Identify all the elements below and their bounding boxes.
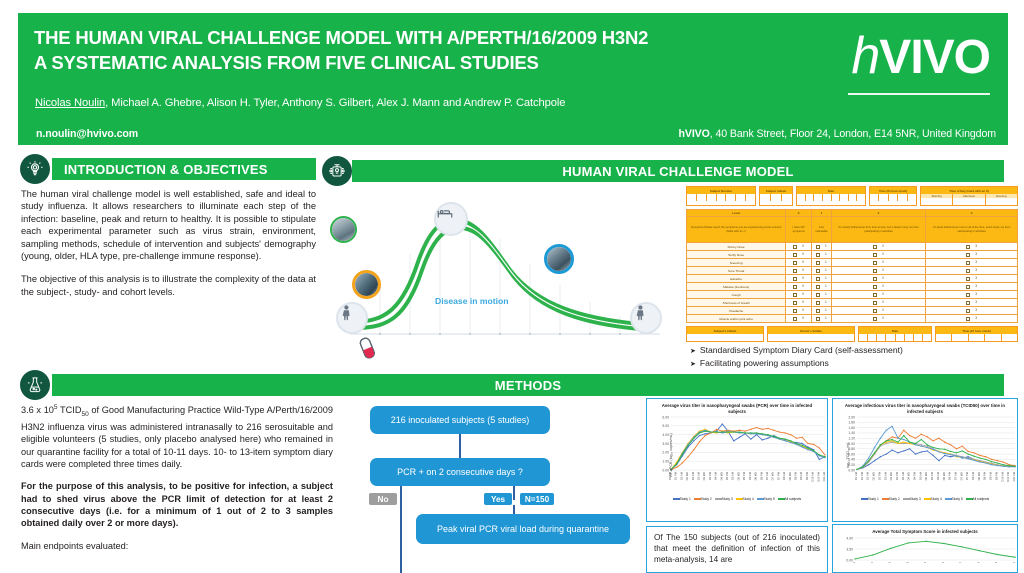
chart1-svg: 0.001.002.003.004.005.006.00D1 AMD1 PMD2… <box>647 414 829 496</box>
level-2-header: 2 <box>831 210 926 217</box>
svg-text:D7 AM: D7 AM <box>953 471 957 480</box>
svg-text:D6 PM: D6 PM <box>759 471 763 480</box>
chart2-plot: log₁₀ TCID₅₀/mL 0.000.200.400.600.801.00… <box>833 414 1017 496</box>
symptom-score-checkbox[interactable]: 2 <box>831 275 926 283</box>
chart2-ylabel: log₁₀ TCID₅₀/mL <box>846 442 850 468</box>
svg-text:D3: D3 <box>888 561 892 563</box>
blood-sample-tube-row <box>358 336 658 362</box>
poster-header-banner: THE HUMAN VIRAL CHALLENGE MODEL WITH A/P… <box>18 13 1008 145</box>
symptom-score-checkbox[interactable]: 1 <box>811 291 831 299</box>
author-list: Nicolas Noulin, Michael A. Ghebre, Aliso… <box>35 97 835 109</box>
svg-text:6.00: 6.00 <box>662 415 669 419</box>
svg-text:D4 MD: D4 MD <box>719 472 723 480</box>
svg-text:D7 MD: D7 MD <box>959 472 963 480</box>
symptom-score-checkbox[interactable]: 0 <box>786 315 812 323</box>
svg-text:D3 AM: D3 AM <box>883 471 887 480</box>
section-header-hvcm: HUMAN VIRAL CHALLENGE MODEL <box>352 160 1004 182</box>
legend-item: Study 5 <box>757 497 775 501</box>
svg-text:D3 PM: D3 PM <box>895 471 899 480</box>
hospital-ward-photo <box>330 216 357 243</box>
legend-label: Study 5 <box>952 497 963 501</box>
chart3-title: Average Total Symptom Score in infected … <box>833 525 1017 535</box>
svg-text:D8 AM: D8 AM <box>782 471 786 480</box>
symptom-name: Runny Nose <box>687 243 786 251</box>
hvivo-logo: hVIVO <box>840 27 990 103</box>
field-label: Subject Number <box>687 187 755 194</box>
symptom-name: Cough <box>687 291 786 299</box>
chart3-svg: 0.003.504.00D1D2D3D4D5D6D7D8D9D10 <box>833 535 1019 563</box>
symptom-score-checkbox[interactable]: 2 <box>831 251 926 259</box>
svg-text:D2: D2 <box>870 561 874 563</box>
field-time-bottom[interactable]: Time (24 hour clock) <box>935 326 1018 342</box>
symptom-score-checkbox[interactable]: 1 <box>811 315 831 323</box>
field-label: Date <box>797 187 865 194</box>
svg-text:D8 PM: D8 PM <box>793 471 797 480</box>
symptom-score-checkbox[interactable]: 0 <box>786 259 812 267</box>
field-subject-initials-bottom[interactable]: Subject's Initials <box>686 326 764 342</box>
legend-label: Study 1 <box>868 497 879 501</box>
tcid-subscript: 50 <box>81 411 88 418</box>
field-date-bottom[interactable]: Date <box>858 326 932 342</box>
logo-h: h <box>851 27 879 85</box>
svg-text:D4 PM: D4 PM <box>725 471 729 480</box>
table-row: Runny Nose0123 <box>687 243 1018 251</box>
flow-box-inoculated-subjects[interactable]: 216 inoculated subjects (5 studies) <box>370 406 550 434</box>
symptom-score-checkbox[interactable]: 0 <box>786 267 812 275</box>
legend-label: Study 3 <box>722 497 733 501</box>
methods-paragraph-1: 3.6 x 105 TCID50 of Good Manufacturing P… <box>21 402 333 470</box>
bullet-item: Standardised Symptom Diary Card (self-as… <box>690 345 1020 358</box>
methods-paragraph-3: Main endpoints evaluated: <box>21 540 333 552</box>
svg-text:D10 PM: D10 PM <box>1006 471 1010 481</box>
poster-title: THE HUMAN VIRAL CHALLENGE MODEL WITH A/P… <box>34 25 844 75</box>
svg-text:0.00: 0.00 <box>848 468 855 472</box>
svg-text:D9 AM: D9 AM <box>799 471 803 480</box>
legend-label: Study 4 <box>743 497 754 501</box>
disease-curve-figure: Disease in motion <box>330 184 678 364</box>
symptom-name: Headache <box>687 307 786 315</box>
svg-text:1.20: 1.20 <box>848 437 855 441</box>
svg-text:D2 AM: D2 AM <box>866 471 870 480</box>
table-row: Stuffy Nose0123 <box>687 251 1018 259</box>
symptom-name: Sore Throat <box>687 267 786 275</box>
disease-in-motion-label: Disease in motion <box>435 296 509 306</box>
introduction-heading: INTRODUCTION & OBJECTIVES <box>64 162 268 177</box>
svg-text:D8: D8 <box>976 561 980 563</box>
svg-text:D10 PM: D10 PM <box>816 471 820 481</box>
svg-text:D7: D7 <box>959 561 963 563</box>
symptom-score-checkbox[interactable]: 2 <box>831 259 926 267</box>
symptom-score-checkbox[interactable]: 2 <box>831 243 926 251</box>
chart-card-pcr-titer: Average virus titer in nasopharyngeal sw… <box>646 398 828 522</box>
symptom-column-instruction: Symptoms Please report the symptoms you … <box>687 217 786 243</box>
symptom-score-checkbox[interactable]: 3 <box>926 243 1018 251</box>
organisation-name: hVIVO <box>679 128 710 140</box>
svg-text:D6 MD: D6 MD <box>754 472 758 480</box>
symptom-score-checkbox[interactable]: 3 <box>926 291 1018 299</box>
svg-text:D5: D5 <box>923 561 927 563</box>
field-label: Time (24 hour clock) <box>936 327 1017 334</box>
legend-label: Study 2 <box>701 497 712 501</box>
svg-text:D8 MD: D8 MD <box>788 472 792 480</box>
table-row: Sore Throat0123 <box>687 267 1018 275</box>
poster-title-line2: A SYSTEMATIC ANALYSIS FROM FIVE CLINICAL… <box>34 50 844 75</box>
bed-icon <box>434 202 468 236</box>
svg-text:D8 MD: D8 MD <box>977 472 981 480</box>
section-header-introduction: INTRODUCTION & OBJECTIVES <box>52 158 316 180</box>
field-label: Date <box>859 327 931 334</box>
svg-text:D9: D9 <box>994 561 998 563</box>
symptom-score-checkbox[interactable]: 1 <box>811 275 831 283</box>
symptom-name: Stuffy Nose <box>687 251 786 259</box>
table-row: Earache0123 <box>687 275 1018 283</box>
field-label: Time of Day (mark with an X) <box>921 187 1017 194</box>
legend-item: All subjects <box>778 497 801 501</box>
methods-heading: METHODS <box>495 378 561 393</box>
flow-connector-yes-down <box>513 505 515 514</box>
symptom-score-checkbox[interactable]: 3 <box>926 267 1018 275</box>
table-row: Malaise (tiredness)0123 <box>687 283 1018 291</box>
flow-tag-yes: Yes <box>484 493 512 505</box>
svg-text:D6 PM: D6 PM <box>948 471 952 480</box>
svg-text:0.00: 0.00 <box>846 558 853 562</box>
field-label: Subject's Initials <box>687 327 763 334</box>
legend-item: Study 4 <box>924 497 942 501</box>
field-time-24h[interactable]: Time (24 hour clock) <box>869 186 917 206</box>
chart2-legend: Study 1Study 2Study 3Study 4Study 5All s… <box>833 496 1017 501</box>
svg-text:D5 AM: D5 AM <box>731 471 735 480</box>
field-label: Subject Initials <box>760 187 792 194</box>
field-time-of-day[interactable]: Time of Day (mark with an X) Morning Aft… <box>920 186 1018 206</box>
legend-label: Study 3 <box>910 497 921 501</box>
flow-box-peak-viral-load[interactable]: Peak viral PCR viral load during quarant… <box>416 514 630 544</box>
introduction-paragraph-2: The objective of this analysis is to ill… <box>21 273 316 298</box>
svg-text:D7 MD: D7 MD <box>771 472 775 480</box>
symptom-score-checkbox[interactable]: 3 <box>926 283 1018 291</box>
presenting-author: Nicolas Noulin <box>35 97 105 109</box>
lightbulb-icon <box>20 154 50 184</box>
flow-tag-n-150: N=150 <box>520 493 554 505</box>
field-label: Time (24 hour clock) <box>870 187 916 194</box>
field-subject-number[interactable]: Subject Number <box>686 186 756 206</box>
microscope-flask-icon <box>20 370 50 400</box>
symptom-name: Muscle and/or joint ache <box>687 315 786 323</box>
flow-connector-yes <box>513 486 515 500</box>
svg-text:D4 AM: D4 AM <box>714 471 718 480</box>
svg-text:D4 MD: D4 MD <box>907 472 911 480</box>
svg-text:1.60: 1.60 <box>848 426 855 430</box>
methods-paragraph-2: For the purpose of this analysis, to be … <box>21 480 333 529</box>
symptom-score-checkbox[interactable]: 3 <box>926 251 1018 259</box>
hvcm-heading: HUMAN VIRAL CHALLENGE MODEL <box>562 164 793 179</box>
svg-text:4.00: 4.00 <box>846 536 853 540</box>
field-subject-initials[interactable]: Subject Initials <box>759 186 793 206</box>
level-1-description: Just noticeable <box>811 217 831 243</box>
laboratory-photo <box>544 244 574 274</box>
legend-label: Study 5 <box>764 497 775 501</box>
chart-card-tcid50-titer: Average infectious virus titer in nasoph… <box>832 398 1018 522</box>
symptom-rows-body: Runny Nose0123Stuffy Nose0123Sneezing012… <box>687 243 1018 323</box>
introduction-paragraph-1: The human viral challenge model is well … <box>21 188 316 262</box>
table-row: Muscle and/or joint ache0123 <box>687 315 1018 323</box>
legend-label: All subjects <box>973 497 990 501</box>
legend-item: Study 3 <box>715 497 733 501</box>
methods-body: 3.6 x 105 TCID50 of Good Manufacturing P… <box>21 402 333 562</box>
contact-email[interactable]: n.noulin@hvivo.com <box>36 128 138 140</box>
symptom-score-checkbox[interactable]: 0 <box>786 299 812 307</box>
svg-text:D6: D6 <box>941 561 945 563</box>
chart-card-symptom-score: Average Total Symptom Score in infected … <box>832 524 1018 573</box>
svg-text:D8 AM: D8 AM <box>971 471 975 480</box>
chart3-plot: 0.003.504.00D1D2D3D4D5D6D7D8D9D10 <box>833 535 1017 563</box>
symptom-score-checkbox[interactable]: 1 <box>811 307 831 315</box>
legend-label: Study 1 <box>680 497 691 501</box>
level-0-description: I have NO symptoms <box>786 217 812 243</box>
poster-title-line1: THE HUMAN VIRAL CHALLENGE MODEL WITH A/P… <box>34 27 648 48</box>
field-label: Doctor's Initials <box>768 327 854 334</box>
logo-vivo: VIVO <box>879 31 990 84</box>
svg-text:D4 AM: D4 AM <box>901 471 905 480</box>
flow-tag-no: No <box>369 493 397 505</box>
tcid-label: TCID <box>58 405 82 415</box>
svg-text:2.00: 2.00 <box>848 415 855 419</box>
svg-text:D10: D10 <box>1012 561 1016 562</box>
symptom-score-checkbox[interactable]: 1 <box>811 299 831 307</box>
introduction-body: The human viral challenge model is well … <box>21 188 316 309</box>
symptom-score-checkbox[interactable]: 3 <box>926 259 1018 267</box>
symptom-score-checkbox[interactable]: 1 <box>811 259 831 267</box>
level-2-description: It's mostly bothersome from time to time… <box>831 217 926 243</box>
svg-text:1.40: 1.40 <box>848 431 855 435</box>
legend-item: Study 1 <box>673 497 691 501</box>
chart1-title: Average virus titer in nasopharyngeal sw… <box>647 399 827 414</box>
flow-box-pcr-criterion[interactable]: PCR + on 2 consecutive days ? <box>370 458 550 486</box>
hvcm-bullet-list: Standardised Symptom Diary Card (self-as… <box>690 345 1020 370</box>
legend-item: Study 2 <box>694 497 712 501</box>
person-icon <box>336 302 368 334</box>
svg-text:3.50: 3.50 <box>846 547 853 551</box>
level-3-header: 3 <box>926 210 1018 217</box>
symptom-score-checkbox[interactable]: 0 <box>786 243 812 251</box>
svg-text:D7 PM: D7 PM <box>776 471 780 480</box>
svg-text:D2 MD: D2 MD <box>872 472 876 480</box>
bullet-item: Facilitating powering assumptions <box>690 358 1020 371</box>
field-date[interactable]: Date <box>796 186 866 206</box>
co-authors: , Michael A. Ghebre, Alison H. Tyler, An… <box>105 97 565 109</box>
symptom-name: Malaise (tiredness) <box>687 283 786 291</box>
logo-underline <box>848 93 990 95</box>
svg-text:D2 MD: D2 MD <box>685 472 689 480</box>
chart1-plot: RT-qPCR (log₁₀ copies/mL) 0.001.002.003.… <box>647 414 827 496</box>
symptom-score-checkbox[interactable]: 0 <box>786 283 812 291</box>
svg-text:D7 AM: D7 AM <box>765 471 769 480</box>
svg-text:D3 AM: D3 AM <box>697 471 701 480</box>
flow-connector-no-down <box>400 500 402 573</box>
chart1-ylabel: RT-qPCR (log₁₀ copies/mL) <box>669 433 673 477</box>
symptom-name: Shortness of breath <box>687 299 786 307</box>
symptom-score-checkbox[interactable]: 2 <box>831 307 926 315</box>
organisation-address: hVIVO, 40 Bank Street, Floor 24, London,… <box>679 128 997 140</box>
symptom-score-checkbox[interactable]: 3 <box>926 307 1018 315</box>
svg-text:D4: D4 <box>905 561 909 563</box>
dose-prefix: 3.6 x 10 <box>21 405 54 415</box>
table-row: Sneezing0123 <box>687 259 1018 267</box>
legend-item: Study 3 <box>903 497 921 501</box>
symptom-score-checkbox[interactable]: 0 <box>786 275 812 283</box>
symptom-score-checkbox[interactable]: 3 <box>926 299 1018 307</box>
symptom-name: Sneezing <box>687 259 786 267</box>
chart1-legend: Study 1Study 2Study 3Study 4Study 5All s… <box>647 496 827 501</box>
flow-connector-no <box>400 486 402 500</box>
blood-tube-icon <box>358 336 377 361</box>
symptom-score-table: Level 0 1 2 3 Symptoms Please report the… <box>686 209 1018 323</box>
svg-text:D2 AM: D2 AM <box>679 471 683 480</box>
svg-text:D11 AM: D11 AM <box>1012 471 1016 481</box>
legend-label: All subjects <box>785 497 802 501</box>
level-header: Level <box>687 210 786 217</box>
legend-item: All subjects <box>966 497 989 501</box>
level-3-description: It's quite bothersome most or all of the… <box>926 217 1018 243</box>
svg-text:D6 AM: D6 AM <box>748 471 752 480</box>
clinic-robot-icon <box>322 156 352 186</box>
poster-canvas: THE HUMAN VIRAL CHALLENGE MODEL WITH A/P… <box>0 0 1024 573</box>
symptom-score-checkbox[interactable]: 0 <box>786 291 812 299</box>
symptom-score-checkbox[interactable]: 0 <box>786 251 812 259</box>
table-row: Headache0123 <box>687 307 1018 315</box>
symptom-score-checkbox[interactable]: 0 <box>786 307 812 315</box>
symptom-score-checkbox[interactable]: 1 <box>811 251 831 259</box>
legend-item: Study 4 <box>736 497 754 501</box>
svg-text:D8 PM: D8 PM <box>983 471 987 480</box>
svg-text:D2 PM: D2 PM <box>691 471 695 480</box>
flow-connector-1 <box>459 434 461 458</box>
diary-card-top-fields: Subject Number Subject Initials Date Tim… <box>686 186 1018 206</box>
legend-item: Study 5 <box>945 497 963 501</box>
symptom-score-checkbox[interactable]: 1 <box>811 267 831 275</box>
svg-text:D5 MD: D5 MD <box>736 472 740 480</box>
legend-item: Study 1 <box>861 497 879 501</box>
symptom-name: Earache <box>687 275 786 283</box>
table-row: Cough0123 <box>687 291 1018 299</box>
methods-flowchart: 216 inoculated subjects (5 studies) PCR … <box>352 402 630 573</box>
symptom-score-checkbox[interactable]: 2 <box>831 267 926 275</box>
chart2-svg: 0.000.200.400.600.801.001.201.401.601.80… <box>833 414 1019 496</box>
chart2-title: Average infectious virus titer in nasoph… <box>833 399 1017 414</box>
legend-item: Study 2 <box>882 497 900 501</box>
svg-text:D6 AM: D6 AM <box>936 471 940 480</box>
svg-text:D1 PM: D1 PM <box>674 471 678 480</box>
svg-text:D9 PM: D9 PM <box>994 471 998 480</box>
svg-text:D2 PM: D2 PM <box>877 471 881 480</box>
symptom-diary-card: Subject Number Subject Initials Date Tim… <box>686 186 1018 336</box>
symptom-score-checkbox[interactable]: 2 <box>831 291 926 299</box>
svg-text:D3 PM: D3 PM <box>708 471 712 480</box>
svg-text:D11 AM: D11 AM <box>822 471 826 481</box>
person-icon-end <box>630 302 662 334</box>
svg-text:D4 PM: D4 PM <box>913 471 917 480</box>
svg-text:D7 PM: D7 PM <box>965 471 969 480</box>
section-header-methods: METHODS <box>52 374 1004 396</box>
logo-wordmark: hVIVO <box>840 31 990 83</box>
results-conclusion-text: Of The 150 subjects (out of 216 inoculat… <box>646 526 828 573</box>
level-0-header: 0 <box>786 210 812 217</box>
svg-text:D5 PM: D5 PM <box>742 471 746 480</box>
svg-text:D1 PM: D1 PM <box>860 471 864 480</box>
svg-text:D5 MD: D5 MD <box>924 472 928 480</box>
table-description-row: Symptoms Please report the symptoms you … <box>687 217 1018 243</box>
svg-text:D10 AM: D10 AM <box>811 471 815 481</box>
svg-text:D3 MD: D3 MD <box>702 472 706 480</box>
address-text: , 40 Bank Street, Floor 24, London, E14 … <box>710 128 996 140</box>
table-header-row: Level 0 1 2 3 <box>687 210 1018 217</box>
symptom-score-checkbox[interactable]: 3 <box>926 275 1018 283</box>
svg-text:D9 PM: D9 PM <box>805 471 809 480</box>
symptom-score-checkbox[interactable]: 2 <box>831 315 926 323</box>
symptom-score-checkbox[interactable]: 1 <box>811 243 831 251</box>
svg-text:5.00: 5.00 <box>662 424 669 428</box>
field-doctor-initials[interactable]: Doctor's Initials <box>767 326 855 342</box>
svg-text:D10 AM: D10 AM <box>1000 471 1004 481</box>
svg-text:D3 MD: D3 MD <box>889 472 893 480</box>
svg-text:D5 PM: D5 PM <box>930 471 934 480</box>
symptom-score-checkbox[interactable]: 3 <box>926 315 1018 323</box>
svg-text:D5 AM: D5 AM <box>918 471 922 480</box>
diary-card-bottom-fields: Subject's Initials Doctor's Initials Dat… <box>686 326 1018 342</box>
symptom-score-checkbox[interactable]: 2 <box>831 299 926 307</box>
table-row: Shortness of breath0123 <box>687 299 1018 307</box>
symptom-score-checkbox[interactable]: 2 <box>831 283 926 291</box>
symptom-score-checkbox[interactable]: 1 <box>811 283 831 291</box>
nasal-swab-photo <box>352 270 381 299</box>
legend-label: Study 4 <box>931 497 942 501</box>
svg-text:D6 MD: D6 MD <box>942 472 946 480</box>
legend-label: Study 2 <box>889 497 900 501</box>
svg-text:D1 AM: D1 AM <box>854 471 858 480</box>
level-1-header: 1 <box>811 210 831 217</box>
svg-text:1.80: 1.80 <box>848 421 855 425</box>
svg-text:D9 AM: D9 AM <box>989 471 993 480</box>
